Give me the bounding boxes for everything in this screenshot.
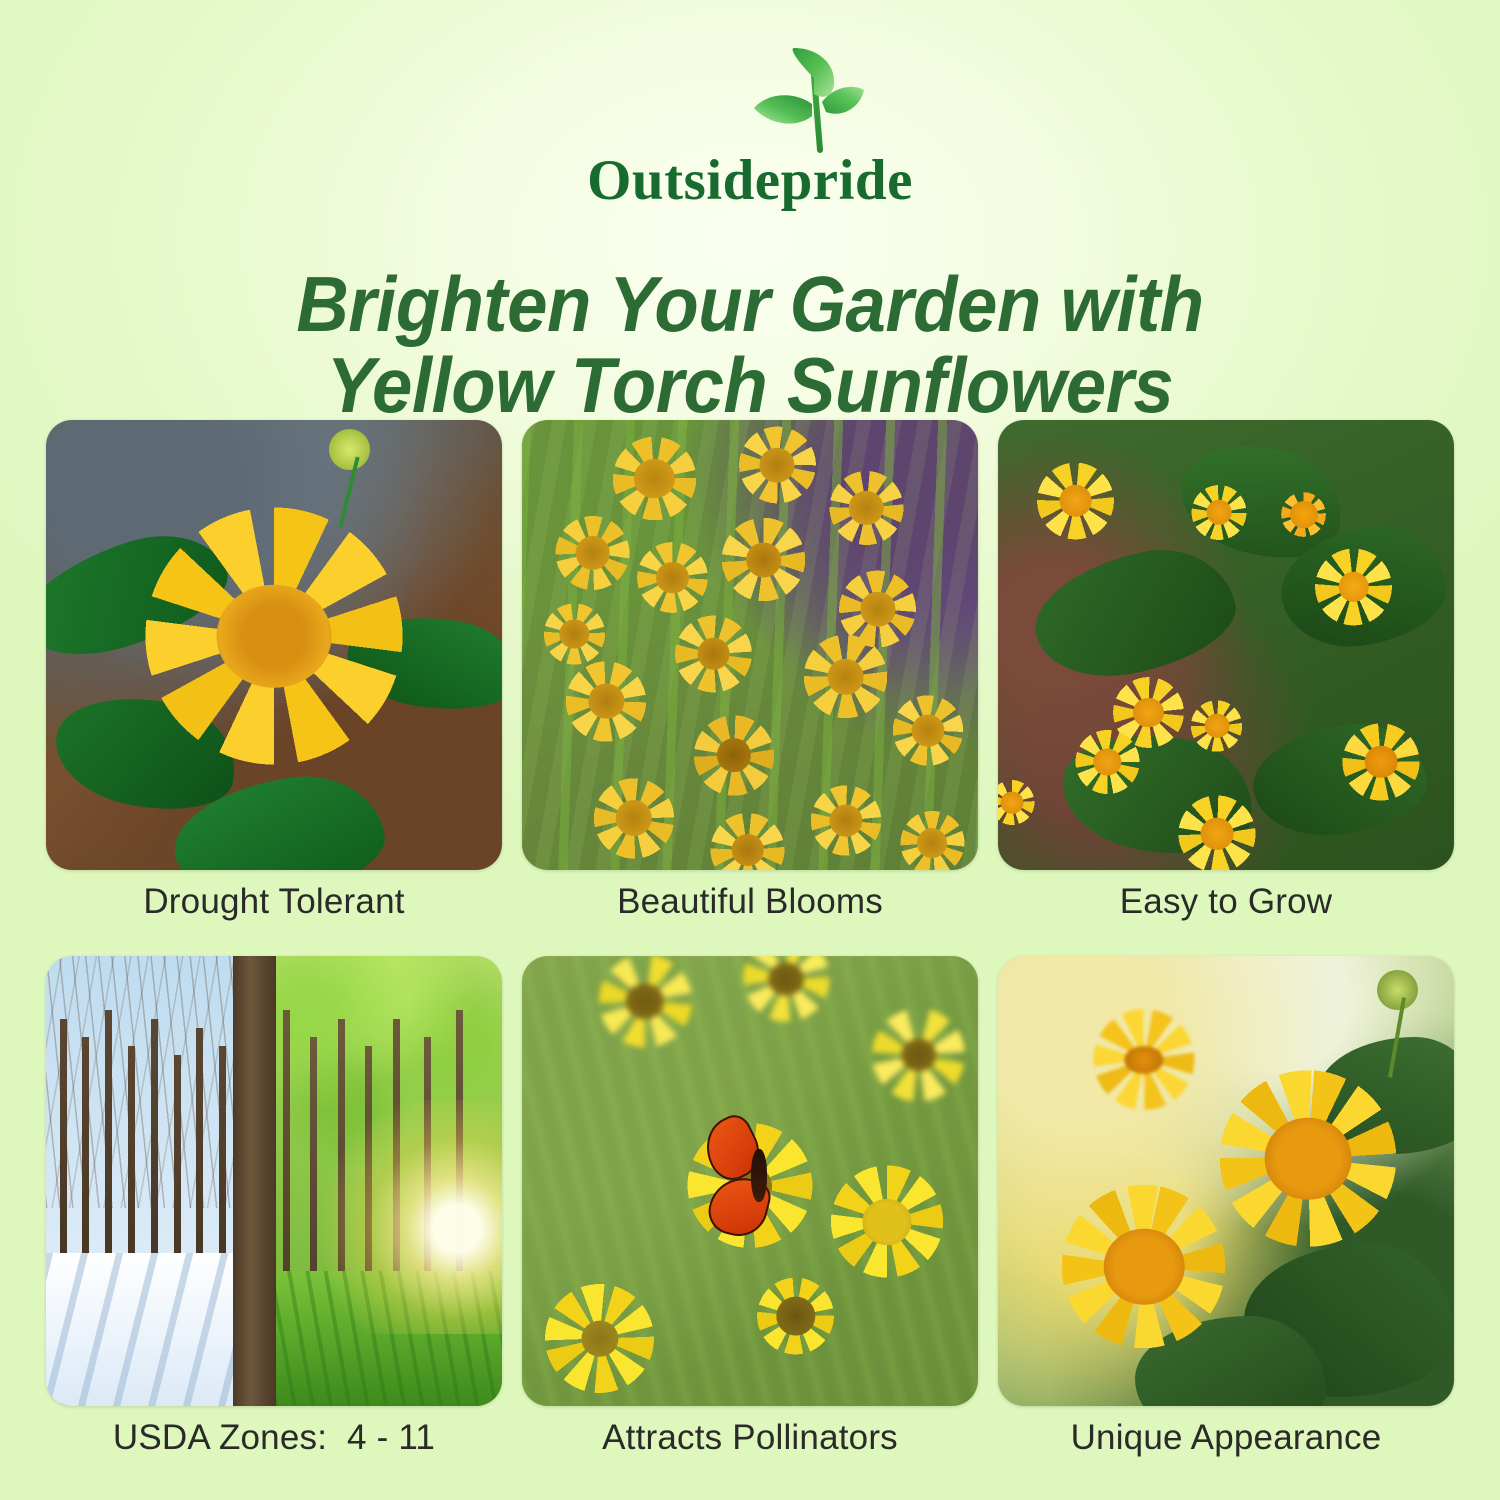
orange-butterfly-on-sunflower-image [522,956,978,1406]
butterfly-icon [704,1118,804,1235]
single-yellow-flower-on-soil-image [46,420,502,870]
feature-caption: Attracts Pollinators [522,1418,978,1458]
mass-of-golden-daisies-image [522,420,978,870]
brand-wordmark: Outsidepride [0,152,1500,209]
three-leaf-sprout-icon [750,46,870,158]
feature-caption: Easy to Grow [998,882,1454,922]
feature-card-attracts-pollinators: Attracts Pollinators [522,956,978,1458]
feature-card-drought-tolerant: Drought Tolerant [46,420,502,922]
feature-card-unique-appearance: Unique Appearance [998,956,1454,1458]
feature-caption: USDA Zones: 4 - 11 [46,1418,502,1458]
brand-header: Outsidepride [0,22,1500,202]
feature-card-usda-zones: USDA Zones: 4 - 11 [46,956,502,1458]
winter-summer-split-forest-image [46,956,502,1406]
infographic-poster: Outsidepride Brighten Your Garden with Y… [0,0,1500,1500]
feature-card-easy-to-grow: Easy to Grow [998,420,1454,922]
feature-caption: Beautiful Blooms [522,882,978,922]
feature-grid: Drought Tolerant [46,420,1454,1459]
headline-line-2: Yellow Torch Sunflowers [53,345,1448,425]
headline-line-1: Brighten Your Garden with [53,264,1448,344]
yellow-flowers-with-green-foliage-image [998,420,1454,870]
feature-card-beautiful-blooms: Beautiful Blooms [522,420,978,922]
two-large-yellow-blooms-image [998,956,1454,1406]
feature-caption: Drought Tolerant [46,882,502,922]
page-title: Brighten Your Garden with Yellow Torch S… [53,264,1448,425]
feature-caption: Unique Appearance [998,1418,1454,1458]
